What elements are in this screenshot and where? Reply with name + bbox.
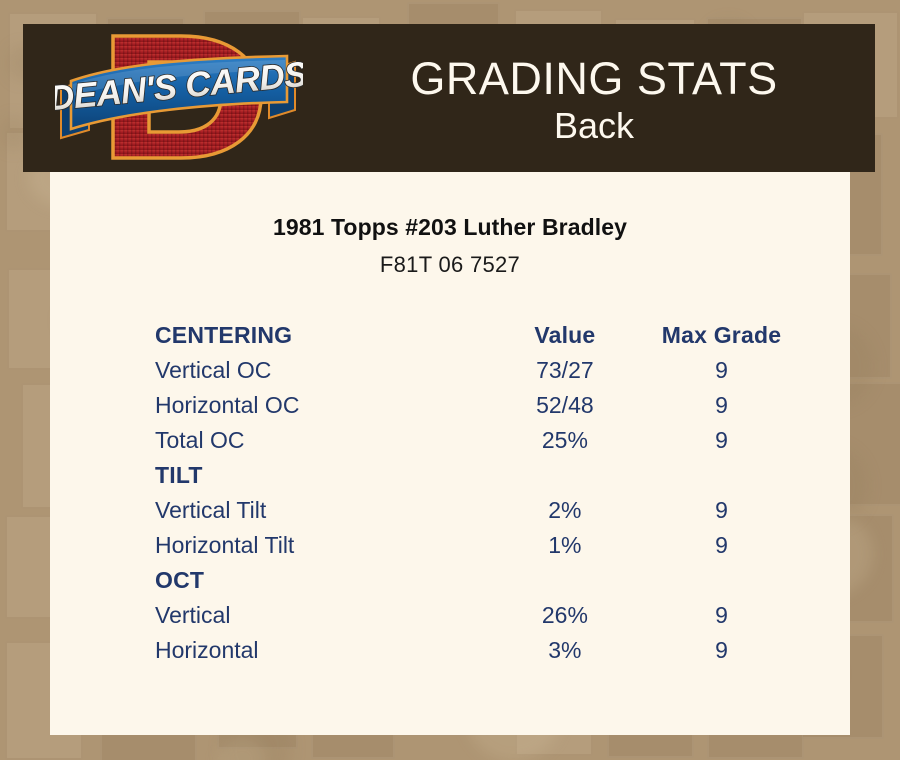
- table-row: Vertical Tilt2%9: [155, 493, 800, 528]
- row-max-grade: 9: [643, 423, 800, 458]
- page-title: GRADING STATS: [410, 56, 777, 102]
- row-max-grade: 9: [643, 388, 800, 423]
- section-header-row: OCT: [155, 563, 800, 598]
- section-spacer: [487, 563, 643, 598]
- section-name: TILT: [155, 458, 487, 493]
- row-label: Vertical: [155, 598, 487, 633]
- card-title: 1981 Topps #203 Luther Bradley: [50, 214, 850, 241]
- row-label: Total OC: [155, 423, 487, 458]
- row-value: 1%: [487, 528, 643, 563]
- table-header-row: CENTERING Value Max Grade: [155, 318, 800, 353]
- section-spacer: [643, 563, 800, 598]
- row-label: Horizontal OC: [155, 388, 487, 423]
- row-max-grade: 9: [643, 528, 800, 563]
- content-panel: 1981 Topps #203 Luther Bradley F81T 06 7…: [50, 172, 850, 735]
- row-value: 2%: [487, 493, 643, 528]
- table-row: Horizontal Tilt1%9: [155, 528, 800, 563]
- row-label: Horizontal Tilt: [155, 528, 487, 563]
- page-subtitle: Back: [554, 106, 634, 146]
- table-row: Horizontal OC52/489: [155, 388, 800, 423]
- row-value: 52/48: [487, 388, 643, 423]
- column-header-value: Value: [487, 318, 643, 353]
- row-max-grade: 9: [643, 633, 800, 668]
- header-bar: DEAN'S CARDS GRADING STATS Back: [23, 24, 875, 172]
- section-spacer: [487, 458, 643, 493]
- table-row: Horizontal3%9: [155, 633, 800, 668]
- row-value: 3%: [487, 633, 643, 668]
- row-max-grade: 9: [643, 353, 800, 388]
- card-serial-number: F81T 06 7527: [50, 252, 850, 278]
- logo-graphic: DEAN'S CARDS: [55, 26, 303, 168]
- row-value: 73/27: [487, 353, 643, 388]
- grading-stats-table-wrapper: CENTERING Value Max Grade Vertical OC73/…: [50, 318, 850, 668]
- row-max-grade: 9: [643, 493, 800, 528]
- row-label: Horizontal: [155, 633, 487, 668]
- row-label: Vertical Tilt: [155, 493, 487, 528]
- table-row: Vertical26%9: [155, 598, 800, 633]
- table-body: Vertical OC73/279Horizontal OC52/489Tota…: [155, 353, 800, 668]
- table-row: Total OC25%9: [155, 423, 800, 458]
- header-title-block: GRADING STATS Back: [313, 24, 875, 172]
- row-value: 26%: [487, 598, 643, 633]
- row-value: 25%: [487, 423, 643, 458]
- deans-cards-logo[interactable]: DEAN'S CARDS: [55, 26, 303, 168]
- section-name: OCT: [155, 563, 487, 598]
- grading-stats-table: CENTERING Value Max Grade Vertical OC73/…: [155, 318, 800, 668]
- section-spacer: [643, 458, 800, 493]
- column-header-max-grade: Max Grade: [643, 318, 800, 353]
- section-header-row: TILT: [155, 458, 800, 493]
- table-row: Vertical OC73/279: [155, 353, 800, 388]
- row-label: Vertical OC: [155, 353, 487, 388]
- column-header-section: CENTERING: [155, 318, 487, 353]
- row-max-grade: 9: [643, 598, 800, 633]
- table-header: CENTERING Value Max Grade: [155, 318, 800, 353]
